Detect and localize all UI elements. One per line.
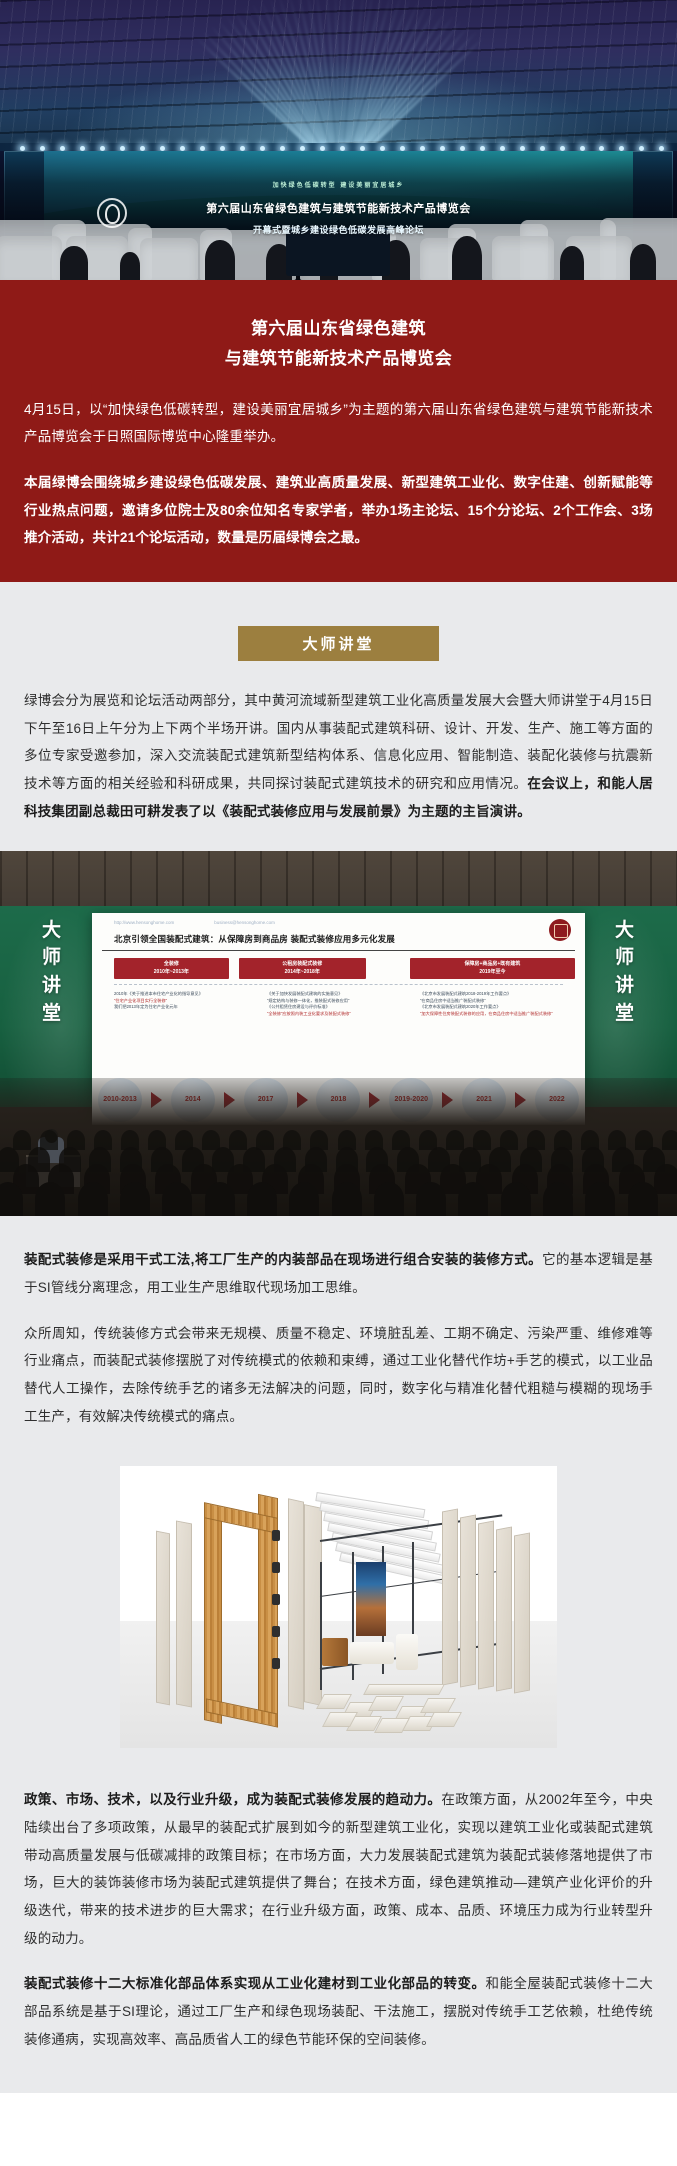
interior-fixture bbox=[350, 1642, 394, 1664]
slide-url-left: http://www.hensonghome.com bbox=[114, 920, 174, 925]
phase-band-2: 公租房装配式装修 2014年~2018年 bbox=[239, 958, 366, 979]
door-hinge-3 bbox=[272, 1626, 280, 1637]
board-panel-2 bbox=[478, 1521, 494, 1690]
wood-cabinet bbox=[322, 1638, 348, 1666]
wall-panel bbox=[176, 1521, 192, 1708]
board-panel-3 bbox=[496, 1527, 512, 1692]
audience-head bbox=[229, 1130, 247, 1151]
stage-light-dot bbox=[520, 146, 525, 151]
audience-head bbox=[162, 1182, 192, 1217]
slide-phase-bands: 全装修 2010年~2013年 公租房装配式装修 2014年~2018年 保障房… bbox=[102, 958, 575, 979]
drivers-paragraph-1-rest: 在政策方面，从2002年至今，中央陆续出台了多项政策，从最早的装配式扩展到如今的… bbox=[24, 1792, 653, 1945]
audience-head bbox=[256, 1130, 274, 1151]
stage-light-dot bbox=[420, 146, 425, 151]
drivers-paragraph-2-bold: 装配式装修十二大标准化部品体系实现从工业化建材到工业化部品的转变。 bbox=[24, 1976, 485, 1991]
slide-policy-columns: 2010年《关于推进本市住宅产业化的指导意见》 “住宅产业化项目实行全装修” 我… bbox=[102, 985, 575, 1017]
stage-screen-subtitle2: 开幕式暨城乡建设绿色低碳发展高峰论坛 bbox=[44, 223, 633, 236]
audience-head bbox=[628, 1182, 658, 1217]
prefab-paragraph-2: 众所周知，传统装修方式会带来无规模、质量不稳定、环境脏乱差、工期不确定、污染严重… bbox=[24, 1320, 653, 1431]
policy-column-3: 《北京市发展装配式建筑2018-2019年工作要点》 “在商品住房中适当推广装配… bbox=[420, 991, 563, 1017]
side-banner-left-char-2: 讲 bbox=[16, 972, 88, 1000]
event-title: 第六届山东省绿色建筑 与建筑节能新技术产品博览会 bbox=[24, 314, 653, 374]
audience-head bbox=[202, 1130, 220, 1151]
phase-band-1-line1: 全装修 bbox=[118, 961, 225, 969]
hero-conference-photo: 加快绿色低碳转型 建设美丽宜居城乡 第六届山东省绿色建筑与建筑节能新技术产品博览… bbox=[0, 0, 677, 280]
stage-screen-subtitle: 加快绿色低碳转型 建设美丽宜居城乡 bbox=[44, 180, 633, 189]
audience-head bbox=[60, 246, 88, 280]
prefab-paragraph-1-bold: 装配式装修是采用干式工法,将工厂生产的内装部品在现场进行组合安装的装修方式。 bbox=[24, 1252, 542, 1267]
door-hinge-1 bbox=[272, 1562, 280, 1573]
audience-head bbox=[473, 1130, 491, 1151]
drivers-paragraph-1: 政策、市场、技术，以及行业升级，成为装配式装修发展的趋动力。在政策方面，从200… bbox=[24, 1786, 653, 1952]
audience-head bbox=[543, 1182, 573, 1217]
stage-light-dot bbox=[280, 146, 285, 151]
phase-band-3-line2: 2019年至今 bbox=[414, 969, 571, 977]
policy-item: 我们把2013年定为住宅产业化元年 bbox=[114, 1004, 257, 1011]
stage-light-dot bbox=[220, 146, 225, 151]
board-panel-1 bbox=[460, 1515, 476, 1688]
audience-head bbox=[452, 236, 482, 280]
prefab-render-photo bbox=[0, 1456, 677, 1756]
stage-light-dot bbox=[560, 146, 565, 151]
frame-post-0 bbox=[320, 1562, 322, 1690]
policy-column-2: 《关于加快发展装配式建筑的实施意见》 “规定结构与装修一体化，推装配式装修应用”… bbox=[267, 991, 410, 1017]
door-hinge-4 bbox=[272, 1658, 280, 1669]
audience-head bbox=[247, 1182, 277, 1217]
red-intro-section: 第六届山东省绿色建筑 与建筑节能新技术产品博览会 4月15日，以“加快绿色低碳转… bbox=[0, 280, 677, 582]
masters-lecture-section: 大师讲堂 绿博会分为展览和论坛活动两部分，其中黄河流域新型建筑工业化高质量发展大… bbox=[0, 582, 677, 851]
audience-head bbox=[35, 1182, 65, 1217]
event-title-line-1: 第六届山东省绿色建筑 bbox=[24, 314, 653, 344]
audience-head bbox=[446, 1130, 464, 1151]
stage-light-beams bbox=[0, 0, 677, 157]
prefab-paragraph-1: 装配式装修是采用干式工法,将工厂生产的内装部品在现场进行组合安装的装修方式。它的… bbox=[24, 1246, 653, 1301]
side-banner-right-char-0: 大 bbox=[589, 917, 661, 945]
side-banner-left-char-1: 师 bbox=[16, 944, 88, 972]
slide-url-right: business@hensonghome.com bbox=[214, 920, 275, 925]
side-banner-right-char-3: 堂 bbox=[589, 1000, 661, 1028]
stage-light-dot bbox=[320, 146, 325, 151]
audience-head bbox=[416, 1182, 446, 1217]
slide-title: 北京引领全国装配式建筑：从保障房到商品房 装配式装修应用多元化发展 bbox=[102, 929, 575, 951]
audience-head bbox=[289, 1182, 319, 1217]
audience-head bbox=[630, 244, 656, 280]
audience-head bbox=[560, 246, 584, 280]
stage-light-dot bbox=[540, 146, 545, 151]
audience-head bbox=[501, 1182, 531, 1217]
audience-head bbox=[13, 1130, 31, 1151]
stage-light-dot bbox=[200, 146, 205, 151]
audience-seat bbox=[140, 238, 198, 280]
stage-light-dot bbox=[180, 146, 185, 151]
policy-column-1: 2010年《关于推进本市住宅产业化的指导意见》 “住宅产业化项目实行全装修” 我… bbox=[114, 991, 257, 1017]
stage-light-dot bbox=[480, 146, 485, 151]
stage-light-dot bbox=[460, 146, 465, 151]
door-frame bbox=[204, 1508, 222, 1724]
stage-light-dot bbox=[300, 146, 305, 151]
side-banner-left: 大 师 讲 堂 bbox=[16, 917, 88, 1027]
phase-band-3: 保障房+商品房+既有建筑 2019年至今 bbox=[410, 958, 575, 979]
audience-head bbox=[662, 1130, 677, 1151]
policy-item: “全装修”应按照内装工业化要求及装配式装修” bbox=[267, 1011, 410, 1018]
side-banner-right-char-2: 讲 bbox=[589, 972, 661, 1000]
side-banner-right-char-1: 师 bbox=[589, 944, 661, 972]
stage-light-dot bbox=[380, 146, 385, 151]
audience-head bbox=[205, 1182, 235, 1217]
audience-head bbox=[205, 240, 235, 280]
red-paragraph-1: 4月15日，以“加快绿色低碳转型，建设美丽宜居城乡”为主题的第六届山东省绿色建筑… bbox=[24, 396, 653, 451]
audience-head bbox=[120, 1182, 150, 1217]
prefab-description-section: 装配式装修是采用干式工法,将工厂生产的内装部品在现场进行组合安装的装修方式。它的… bbox=[0, 1216, 677, 1456]
wall-panel bbox=[156, 1531, 170, 1706]
stage-light-dot bbox=[340, 146, 345, 151]
audience-seat bbox=[0, 236, 62, 280]
audience-head bbox=[78, 1182, 108, 1217]
side-banner-left-char-3: 堂 bbox=[16, 1000, 88, 1028]
wall-panel bbox=[288, 1499, 304, 1710]
wall-poster bbox=[356, 1562, 386, 1636]
red-paragraph-2: 本届绿博会围绕城乡建设绿色低碳发展、建筑业高质量发展、新型建筑工业化、数字住建、… bbox=[24, 469, 653, 552]
audience-head bbox=[374, 1182, 404, 1217]
side-banner-left-char-0: 大 bbox=[16, 917, 88, 945]
stage-light-dot bbox=[440, 146, 445, 151]
door-hinge-0 bbox=[272, 1530, 280, 1541]
audience-head bbox=[458, 1182, 488, 1217]
floor-strip bbox=[363, 1684, 445, 1695]
event-title-line-2: 与建筑节能新技术产品博览会 bbox=[24, 344, 653, 374]
masters-heading-badge: 大师讲堂 bbox=[238, 626, 438, 661]
board-panel-4 bbox=[514, 1533, 530, 1694]
phase-band-1-line2: 2010年~2013年 bbox=[118, 969, 225, 977]
audience-head bbox=[654, 1164, 677, 1194]
door-hinge-2 bbox=[272, 1594, 280, 1605]
stage-light-dot bbox=[360, 146, 365, 151]
board-panel-0 bbox=[442, 1509, 458, 1686]
audience-head bbox=[585, 1182, 615, 1217]
side-banner-right: 大 师 讲 堂 bbox=[589, 917, 661, 1027]
phase-band-2-line1: 公租房装配式装修 bbox=[243, 961, 362, 969]
drivers-section: 政策、市场、技术，以及行业升级，成为装配式装修发展的趋动力。在政策方面，从200… bbox=[0, 1756, 677, 2093]
stage-light-dot bbox=[160, 146, 165, 151]
phase-band-2-line2: 2014年~2018年 bbox=[243, 969, 362, 977]
slide-urls: http://www.hensonghome.com business@hens… bbox=[102, 920, 575, 925]
phase-band-3-line1: 保障房+商品房+既有建筑 bbox=[414, 961, 571, 969]
stage-light-dot bbox=[240, 146, 245, 151]
stage-light-dot bbox=[400, 146, 405, 151]
render-canvas bbox=[120, 1466, 557, 1748]
article-page: 加快绿色低碳转型 建设美丽宜居城乡 第六届山东省绿色建筑与建筑节能新技术产品博览… bbox=[0, 0, 677, 2093]
phase-band-1: 全装修 2010年~2013年 bbox=[114, 958, 229, 979]
gold-heading-wrapper: 大师讲堂 bbox=[24, 626, 653, 661]
audience-head bbox=[332, 1182, 362, 1217]
drivers-paragraph-2: 装配式装修十二大标准化部品体系实现从工业化建材到工业化部品的转变。和能全屋装配式… bbox=[24, 1970, 653, 2053]
drivers-paragraph-1-bold: 政策、市场、技术，以及行业升级，成为装配式装修发展的趋动力。 bbox=[24, 1792, 441, 1807]
audience-head bbox=[120, 252, 140, 280]
masters-paragraph: 绿博会分为展览和论坛活动两部分，其中黄河流域新型建筑工业化高质量发展大会暨大师讲… bbox=[24, 687, 653, 825]
policy-item: “加大保障性住房装配式装修的应用，在商品住房中适当推广装配式装修” bbox=[420, 1011, 563, 1018]
audience-seat bbox=[492, 236, 554, 280]
stage-light-dot bbox=[500, 146, 505, 151]
stage-light-dot bbox=[260, 146, 265, 151]
stage-light-dot bbox=[580, 146, 585, 151]
interior-fixture bbox=[396, 1634, 418, 1670]
stage-screen-title: 第六届山东省绿色建筑与建筑节能新技术产品博览会 bbox=[44, 200, 633, 216]
lecture-photo: 大 师 讲 堂 大 师 讲 堂 http://www.hensonghome.c… bbox=[0, 851, 677, 1216]
stage-light-dot bbox=[140, 146, 145, 151]
